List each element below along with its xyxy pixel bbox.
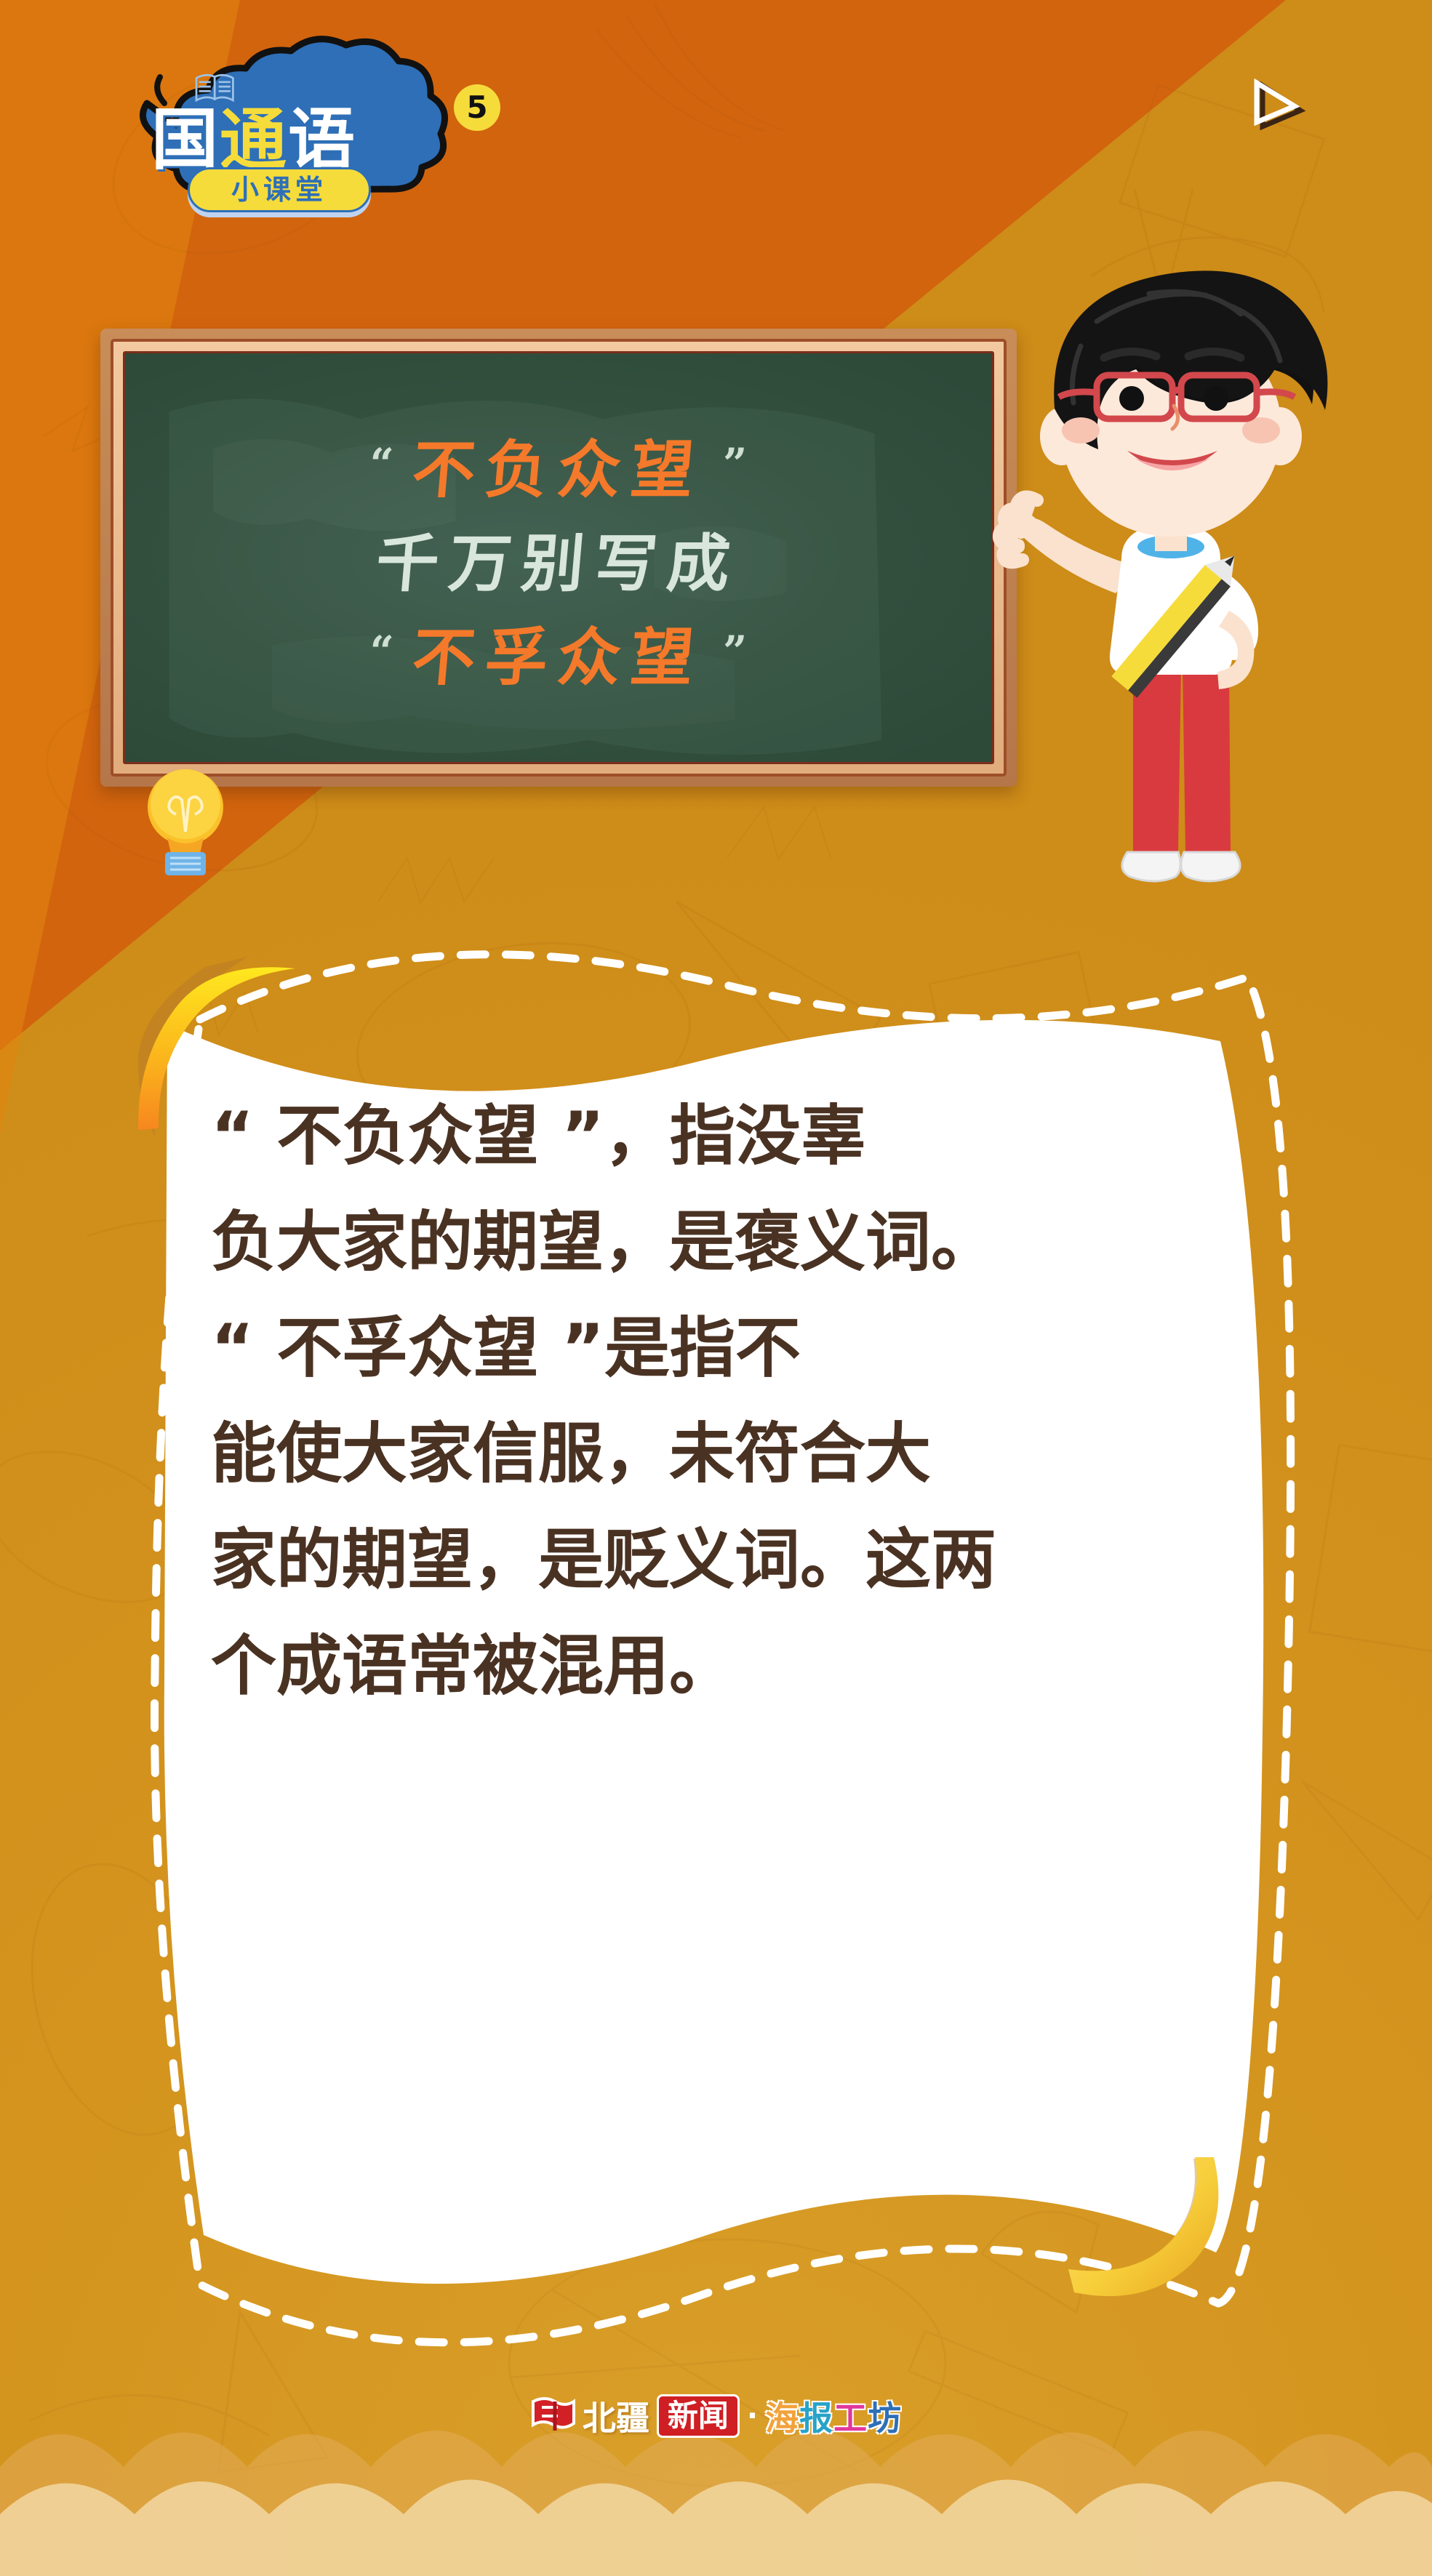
footer-studio-char-1: 海 [765,2399,799,2438]
logo-episode-badge: 5 [454,84,500,131]
blackboard-line-1: “ 不负众望 ” [370,419,748,510]
footer-news-badge: 新闻 [657,2394,740,2438]
quote-open-2: “ [370,630,394,673]
footer-branding: 北疆 新闻 · 海报工坊 [0,2392,1432,2440]
triangle-outline-icon [1249,79,1308,137]
card-line-2: 负大家的期望，是褒义词。 [211,1189,1229,1296]
blackboard-line-2: 千万别写成 [377,513,740,603]
blackboard-frame: “ 不负众望 ” 千万别写成 “ 不孚众望 ” [111,339,1007,777]
card-line-5: 家的期望，是贬义词。这两 [211,1507,1229,1613]
red-flag-icon [530,2397,575,2435]
blackboard-phrase-correct: 不负众望 [409,419,708,510]
blackboard: “ 不负众望 ” 千万别写成 “ 不孚众望 ” [100,329,1017,787]
footer-brand-name: 北疆 [583,2392,649,2440]
quote-close-1: ” [723,443,747,485]
footer-studio-char-3: 工 [833,2399,868,2438]
poster-canvas: 国通语 5 小课堂 [0,0,1432,2576]
brand-logo: 国通语 5 小课堂 [95,58,444,225]
card-line-4: 能使大家信服，未符合大 [211,1401,1229,1507]
blackboard-text-lines: “ 不负众望 ” 千万别写成 “ 不孚众望 ” [125,353,992,762]
logo-subtitle-pill: 小课堂 [188,167,371,212]
lightbulb-icon [138,762,233,878]
footer-separator: · [747,2399,758,2433]
blackboard-line-3: “ 不孚众望 ” [370,606,748,697]
card-line-6: 个成语常被混用。 [211,1613,1229,1720]
footer-studio-name: 海报工坊 [765,2392,902,2440]
blackboard-surface: “ 不负众望 ” 千万别写成 “ 不孚众望 ” [123,351,994,764]
footer-studio-char-4: 坊 [868,2399,902,2438]
student-boy-illustration [1011,218,1331,945]
footer-studio-char-2: 报 [799,2399,833,2438]
blackboard-phrase-wrong: 不孚众望 [409,606,708,697]
card-body-text: “ 不负众望 ”，指没辜 负大家的期望，是褒义词。 “ 不孚众望 ”是指不 能使… [211,1083,1229,1720]
quote-close-2: ” [723,630,747,673]
quote-open-1: “ [370,443,394,485]
bottom-scallop-waves [0,2358,1432,2576]
page-curl-ribbon-bottom-right [1022,2156,1240,2323]
card-line-3: “ 不孚众望 ”是指不 [211,1296,1229,1402]
card-line-1: “ 不负众望 ”，指没辜 [211,1083,1229,1189]
blackboard-warning-text: 千万别写成 [373,513,745,603]
